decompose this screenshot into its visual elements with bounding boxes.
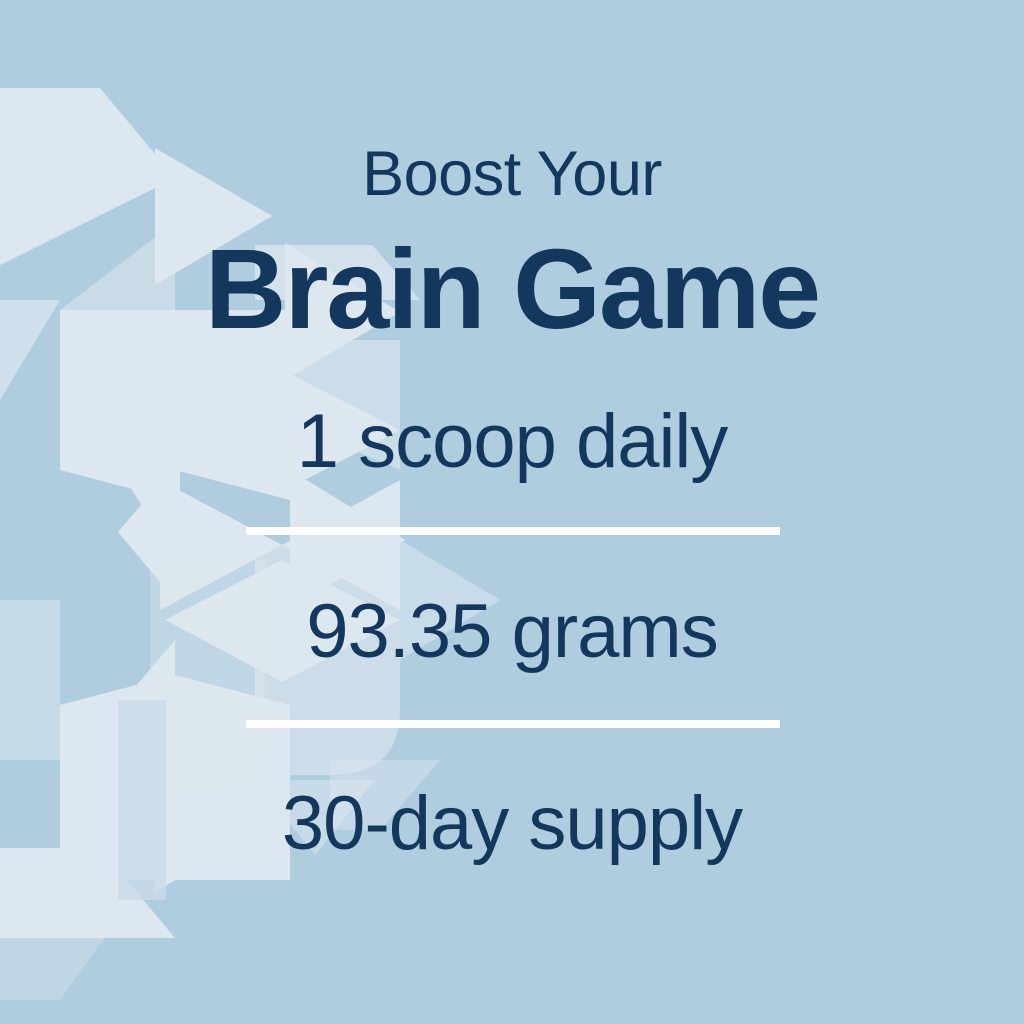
promo-graphic: Boost Your Brain Game 1 scoop daily 93.3…: [0, 0, 1024, 1024]
fact-weight: 93.35 grams: [0, 594, 1024, 670]
fact-dosage: 1 scoop daily: [0, 404, 1024, 480]
divider-rule-2: [246, 720, 780, 728]
page-title: Brain Game: [0, 233, 1024, 346]
eyebrow-text: Boost Your: [0, 143, 1024, 206]
divider-rule-1: [246, 527, 780, 535]
promo-content: Boost Your Brain Game 1 scoop daily 93.3…: [0, 0, 1024, 1024]
fact-supply-duration: 30-day supply: [0, 786, 1024, 862]
